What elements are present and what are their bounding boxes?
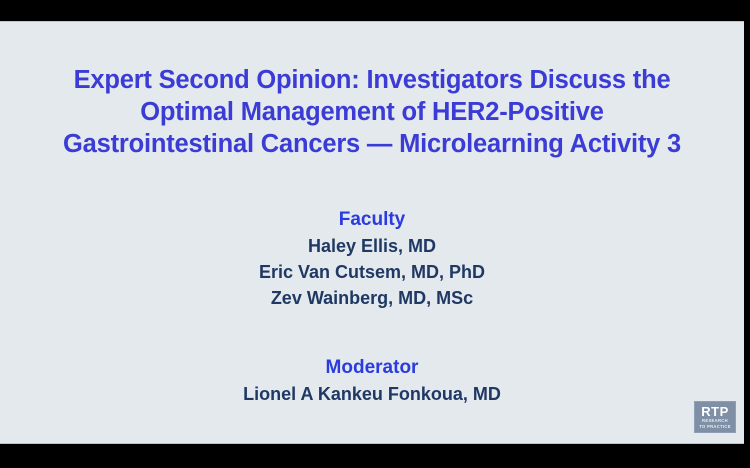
- presentation-title-slide: Expert Second Opinion: Investigators Dis…: [0, 21, 744, 444]
- faculty-member-3: Zev Wainberg, MD, MSc: [0, 285, 744, 311]
- moderator-heading: Moderator: [0, 355, 744, 381]
- research-to-practice-logo: RTP RESEARCH TO PRACTICE: [694, 401, 736, 433]
- logo-tagline-line-1: RESEARCH: [702, 419, 728, 423]
- faculty-heading: Faculty: [0, 207, 744, 233]
- logo-tagline-line-2: TO PRACTICE: [699, 425, 731, 429]
- video-player-frame: Expert Second Opinion: Investigators Dis…: [0, 0, 750, 468]
- faculty-member-2: Eric Van Cutsem, MD, PhD: [0, 259, 744, 285]
- letterbox-bar-bottom: [0, 444, 750, 468]
- moderator-name: Lionel A Kankeu Fonkoua, MD: [0, 381, 744, 407]
- letterbox-bar-right: [744, 0, 750, 468]
- faculty-member-1: Haley Ellis, MD: [0, 233, 744, 259]
- faculty-section: Faculty Haley Ellis, MD Eric Van Cutsem,…: [0, 207, 744, 311]
- slide-title: Expert Second Opinion: Investigators Dis…: [0, 64, 744, 160]
- title-line-3: Gastrointestinal Cancers — Microlearning…: [0, 128, 744, 160]
- letterbox-bar-top: [0, 0, 750, 21]
- title-line-1: Expert Second Opinion: Investigators Dis…: [0, 64, 744, 96]
- title-line-2: Optimal Management of HER2-Positive: [0, 96, 744, 128]
- logo-wordmark: RTP: [701, 405, 729, 418]
- moderator-section: Moderator Lionel A Kankeu Fonkoua, MD: [0, 355, 744, 407]
